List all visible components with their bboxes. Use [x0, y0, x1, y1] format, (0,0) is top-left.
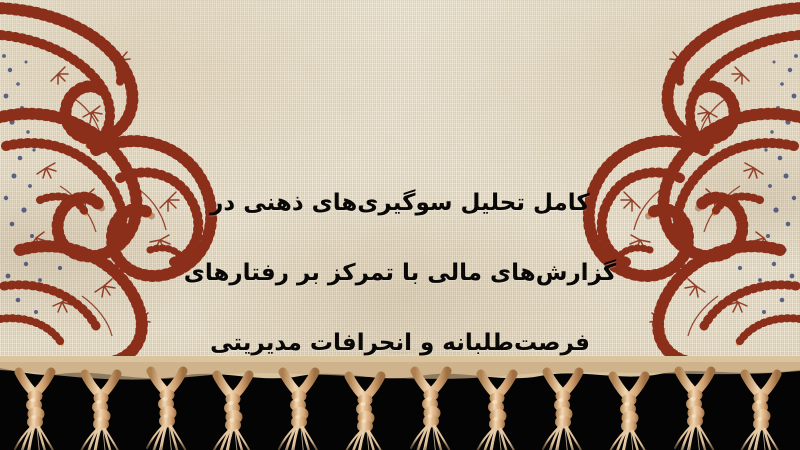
tassel-fringe — [0, 356, 800, 450]
title-card: کامل تحلیل سوگیری‌های ذهنی در گزارش‌های … — [0, 0, 800, 450]
title-line-1: کامل تحلیل سوگیری‌های ذهنی در — [0, 186, 800, 221]
title-line-2: گزارش‌های مالی با تمرکز بر رفتارهای — [0, 256, 800, 291]
